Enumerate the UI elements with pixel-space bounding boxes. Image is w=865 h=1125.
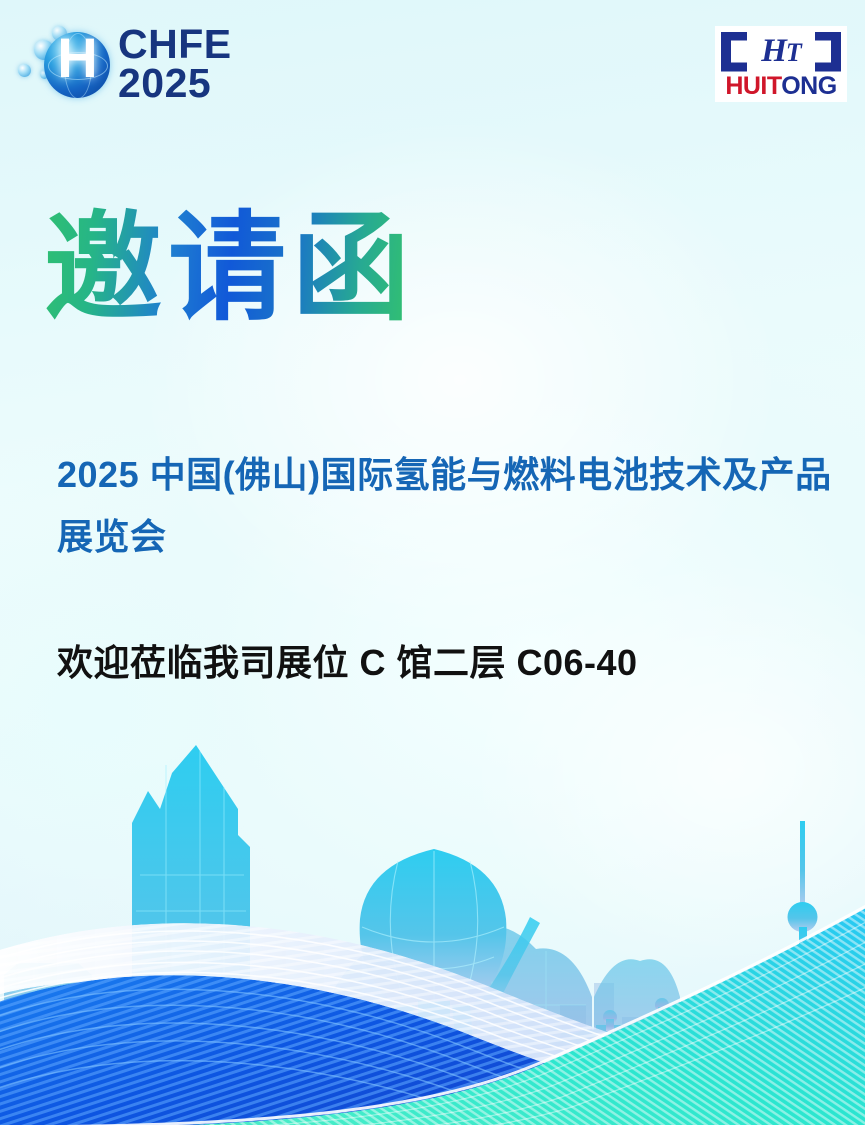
bracket-left-icon <box>721 32 747 72</box>
chfe-line-2: 2025 <box>118 64 232 103</box>
bubble-icon <box>18 64 31 77</box>
bracket-right-icon <box>815 32 841 72</box>
globe-letter-h: H <box>44 24 110 90</box>
chfe-wordmark: CHFE 2025 <box>118 25 232 104</box>
poster-header: H CHFE 2025 HT HUITONG <box>0 0 865 130</box>
invitation-poster: H CHFE 2025 HT HUITONG 邀请函 2025 中国(佛山)国际… <box>0 0 865 1125</box>
monogram-letter-t: T <box>786 38 801 67</box>
huitong-wordmark: HUITONG <box>725 74 836 99</box>
monogram-letter-h: H <box>761 33 786 69</box>
huitong-company-logo: HT HUITONG <box>715 26 847 102</box>
chfe-event-logo: H CHFE 2025 <box>18 22 268 106</box>
event-name: 2025 中国(佛山)国际氢能与燃料电池技术及产品展览会 <box>57 444 857 568</box>
page-title: 邀请函 <box>44 202 416 334</box>
huitong-monogram-text: HT <box>761 35 801 68</box>
huitong-monogram: HT <box>721 31 841 73</box>
huitong-wordmark-blue: ONG <box>781 72 836 100</box>
chfe-globe-icon: H <box>18 24 110 104</box>
chfe-line-1: CHFE <box>118 25 232 64</box>
city-skyline-illustration <box>0 705 865 1125</box>
huitong-wordmark-red: HUIT <box>725 72 781 100</box>
booth-location: 欢迎莅临我司展位 C 馆二层 C06-40 <box>57 638 857 688</box>
